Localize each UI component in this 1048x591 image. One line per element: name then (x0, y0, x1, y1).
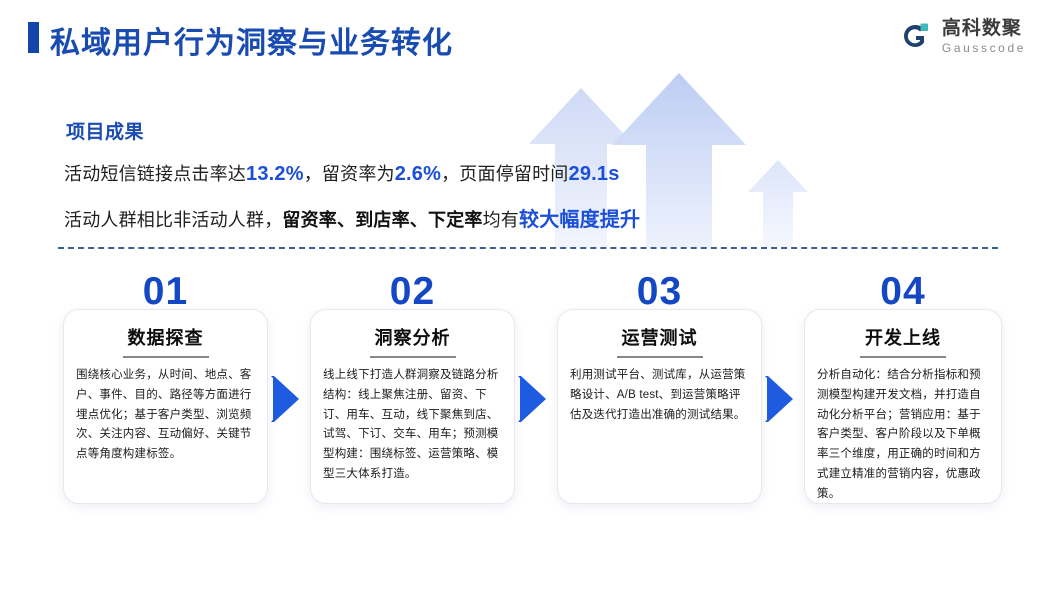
step-number-2: 02 (311, 270, 514, 314)
step-number-1: 01 (64, 270, 267, 314)
step-body-1: 围绕核心业务，从时间、地点、客户、事件、目的、路径等方面进行埋点优化；基于客户类… (76, 366, 255, 465)
step-rule-2 (370, 356, 456, 358)
step-body-3: 利用测试平台、测试库，从运营策略设计、A/B test、到运营策略评估及迭代打造… (570, 366, 749, 425)
step-card-3[interactable]: 03 运营测试 利用测试平台、测试库，从运营策略设计、A/B test、到运营策… (557, 309, 762, 504)
chevron-right-icon-2 (518, 376, 546, 422)
results-heading: 项目成果 (66, 117, 144, 144)
arrow-up-right-icon (748, 160, 808, 248)
step-body-4: 分析自动化：结合分析指标和预测模型构建开发文档，并打造自动化分析平台；营销应用：… (817, 366, 989, 504)
arrow-up-center-icon (612, 73, 746, 248)
result-1-text-1: 活动短信链接点击率达 (64, 164, 246, 184)
step-rule-1 (123, 356, 209, 358)
logo-name-cn: 高科数聚 (942, 19, 1026, 38)
step-card-4[interactable]: 04 开发上线 分析自动化：结合分析指标和预测模型构建开发文档，并打造自动化分析… (804, 309, 1002, 504)
step-number-4: 04 (805, 270, 1001, 314)
step-title-1: 数据探查 (64, 324, 267, 350)
result-2-metrics: 留资率、到店率、下定率 (282, 210, 482, 230)
result-2-text-1: 活动人群相比非活动人群， (64, 210, 282, 230)
section-divider (58, 247, 998, 249)
step-title-4: 开发上线 (805, 324, 1001, 350)
chevron-right-icon-1 (271, 376, 299, 422)
step-rule-3 (617, 356, 703, 358)
step-title-3: 运营测试 (558, 324, 761, 350)
result-1-text-2: ，留资率为 (304, 164, 395, 184)
logo-name-en: Gausscode (942, 42, 1026, 54)
brand-logo: 高科数聚 Gausscode (899, 19, 1026, 54)
gausscode-logo-icon (899, 20, 933, 54)
result-leadrate-value: 2.6% (395, 163, 441, 185)
step-body-2: 线上线下打造人群洞察及链路分析结构：线上聚焦注册、留资、下订、用车、互动，线下聚… (323, 366, 502, 485)
step-card-1[interactable]: 01 数据探查 围绕核心业务，从时间、地点、客户、事件、目的、路径等方面进行埋点… (63, 309, 268, 504)
step-rule-4 (860, 356, 946, 358)
step-number-3: 03 (558, 270, 761, 314)
slide-header: 私域用户行为洞察与业务转化 高科数聚 Gausscode (0, 0, 1048, 78)
step-card-2[interactable]: 02 洞察分析 线上线下打造人群洞察及链路分析结构：线上聚焦注册、留资、下订、用… (310, 309, 515, 504)
slide-root: 私域用户行为洞察与业务转化 高科数聚 Gausscode 项目成果 活动短信链接… (0, 0, 1048, 591)
logo-text-group: 高科数聚 Gausscode (942, 19, 1026, 54)
result-ctr-value: 13.2% (246, 163, 304, 185)
result-2-text-2: 均有 (483, 210, 519, 230)
chevron-right-icon-3 (765, 376, 793, 422)
title-accent-bar (28, 22, 39, 53)
page-title: 私域用户行为洞察与业务转化 (50, 18, 453, 62)
step-title-2: 洞察分析 (311, 324, 514, 350)
